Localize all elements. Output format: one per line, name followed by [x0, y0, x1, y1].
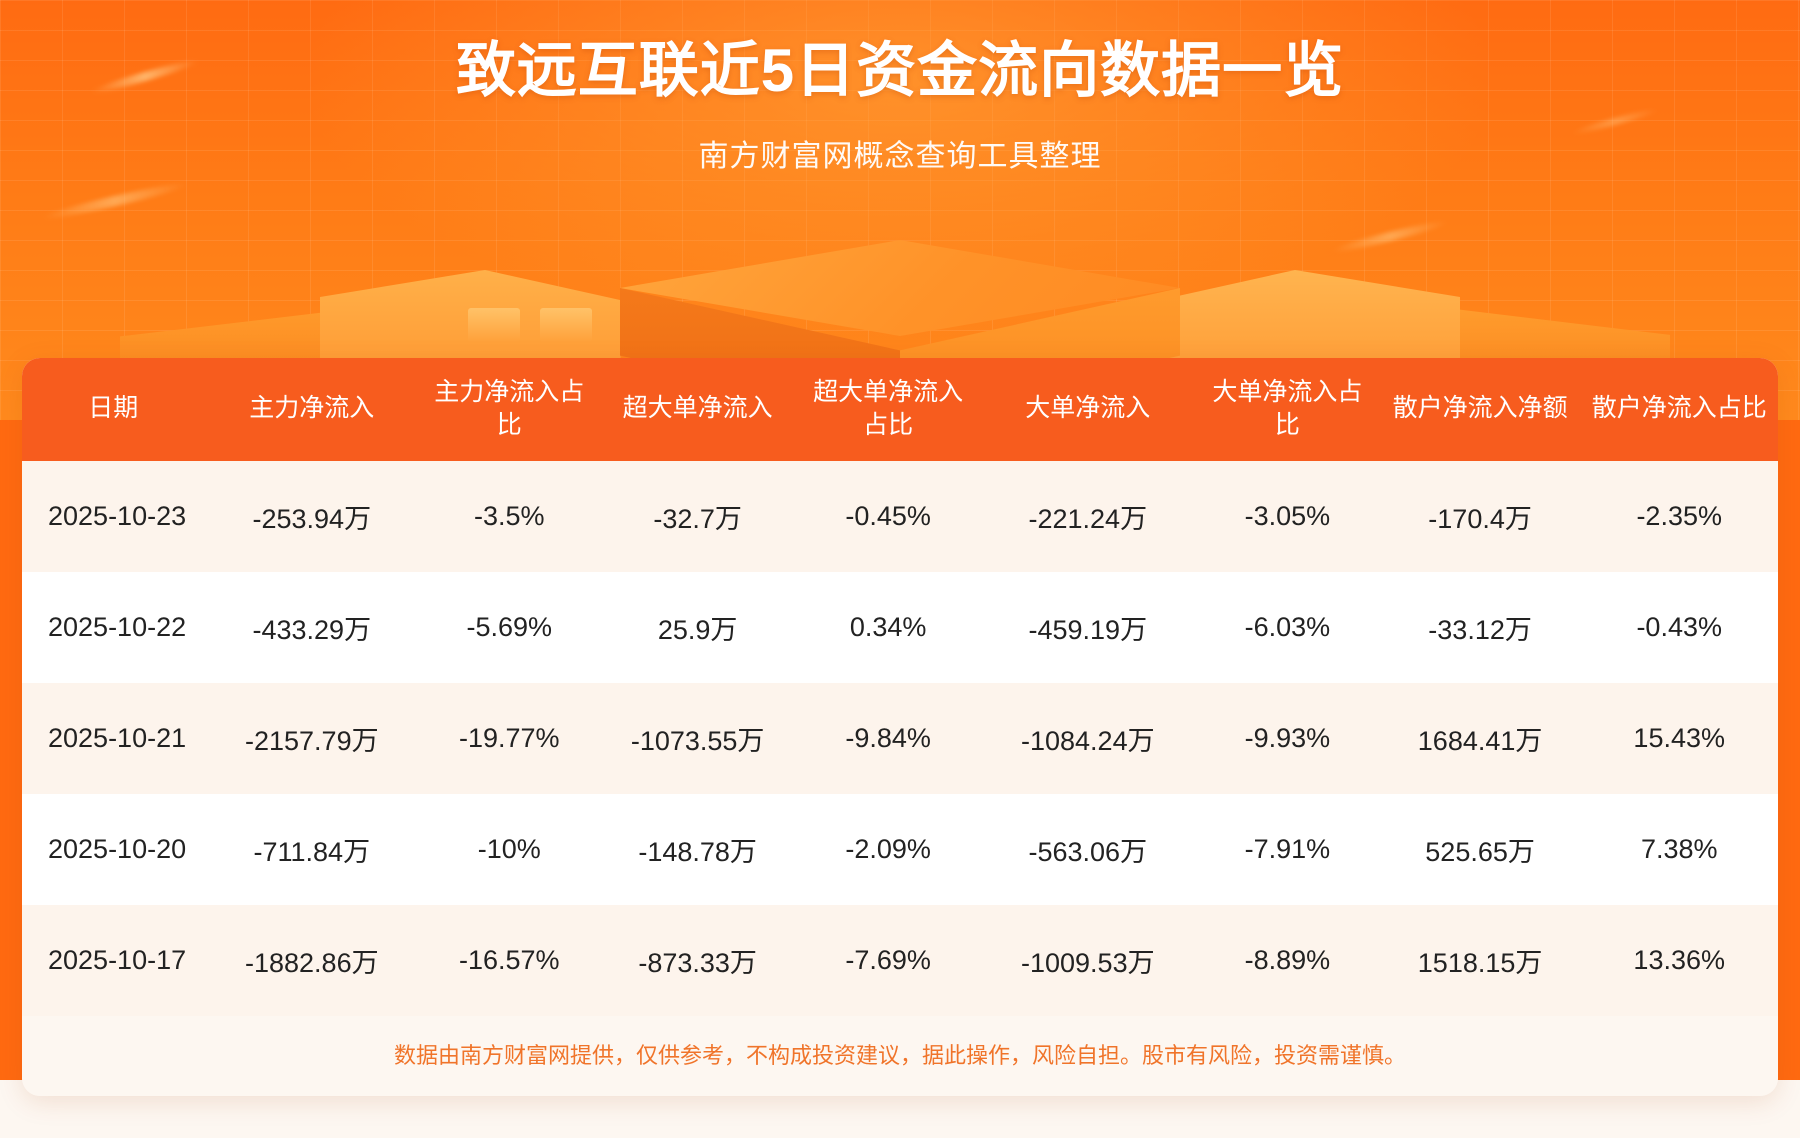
cell-retail-pct: -0.43%	[1580, 572, 1778, 683]
cell-lg-pct: -8.89%	[1195, 905, 1380, 1016]
cell-lg-pct: -9.93%	[1195, 683, 1380, 794]
cell-lg-pct: -3.05%	[1195, 461, 1380, 572]
cell-lg-net: -459.19万	[980, 572, 1195, 683]
cell-xl-pct: 0.34%	[796, 572, 981, 683]
cell-xl-pct: -0.45%	[796, 461, 981, 572]
cell-retail-net: 525.65万	[1380, 794, 1581, 905]
cell-retail-net: -170.4万	[1380, 461, 1581, 572]
cell-xl-net: -32.7万	[599, 461, 795, 572]
cell-date: 2025-10-21	[22, 683, 204, 794]
disclaimer-text: 数据由南方财富网提供，仅供参考，不构成投资建议，据此操作，风险自担。股市有风险，…	[22, 1016, 1778, 1096]
table-row: 2025-10-20 -711.84万 -10% -148.78万 -2.09%…	[22, 794, 1778, 905]
cell-xl-pct: -9.84%	[796, 683, 981, 794]
cell-date: 2025-10-20	[22, 794, 204, 905]
cell-main-pct: -5.69%	[419, 572, 599, 683]
cell-date: 2025-10-22	[22, 572, 204, 683]
cell-main-net: -1882.86万	[204, 905, 419, 1016]
cell-lg-net: -1084.24万	[980, 683, 1195, 794]
column-header-xl-net: 超大单净流入	[599, 358, 795, 461]
column-header-main-net: 主力净流入	[204, 358, 419, 461]
column-header-main-pct: 主力净流入占比	[419, 358, 599, 461]
cell-retail-net: 1518.15万	[1380, 905, 1581, 1016]
page-subtitle: 南方财富网概念查询工具整理	[0, 131, 1800, 175]
column-header-lg-net: 大单净流入	[980, 358, 1195, 461]
cell-lg-net: -563.06万	[980, 794, 1195, 905]
podium-cube	[540, 308, 592, 342]
table-row: 2025-10-21 -2157.79万 -19.77% -1073.55万 -…	[22, 683, 1778, 794]
column-header-retail-net: 散户净流入净额	[1380, 358, 1581, 461]
column-header-retail-pct: 散户净流入占比	[1580, 358, 1778, 461]
column-header-xl-pct: 超大单净流入占比	[796, 358, 981, 461]
cell-main-net: -253.94万	[204, 461, 419, 572]
cell-retail-net: -33.12万	[1380, 572, 1581, 683]
cell-retail-pct: 15.43%	[1580, 683, 1778, 794]
cell-retail-pct: 7.38%	[1580, 794, 1778, 905]
cell-lg-pct: -7.91%	[1195, 794, 1380, 905]
table-header-row: 日期 主力净流入 主力净流入占比 超大单净流入 超大单净流入占比 大单净流入 大…	[22, 358, 1778, 461]
cell-lg-net: -1009.53万	[980, 905, 1195, 1016]
page-title: 致远互联近5日资金流向数据一览	[0, 36, 1800, 105]
cell-xl-net: -1073.55万	[599, 683, 795, 794]
title-block: 致远互联近5日资金流向数据一览 南方财富网概念查询工具整理	[0, 36, 1800, 175]
cell-main-pct: -3.5%	[419, 461, 599, 572]
cell-date: 2025-10-23	[22, 461, 204, 572]
cell-xl-net: -148.78万	[599, 794, 795, 905]
fund-flow-card: 南方财富网 Southmoney.com 日期 主力净流入 主力净流入占比 超大…	[22, 358, 1778, 1096]
cell-date: 2025-10-17	[22, 905, 204, 1016]
table-row: 2025-10-22 -433.29万 -5.69% 25.9万 0.34% -…	[22, 572, 1778, 683]
podium-cube	[468, 308, 520, 342]
cell-retail-pct: -2.35%	[1580, 461, 1778, 572]
cell-main-pct: -19.77%	[419, 683, 599, 794]
table-row: 2025-10-23 -253.94万 -3.5% -32.7万 -0.45% …	[22, 461, 1778, 572]
table-row: 2025-10-17 -1882.86万 -16.57% -873.33万 -7…	[22, 905, 1778, 1016]
cell-lg-net: -221.24万	[980, 461, 1195, 572]
column-header-lg-pct: 大单净流入占比	[1195, 358, 1380, 461]
fund-flow-table: 日期 主力净流入 主力净流入占比 超大单净流入 超大单净流入占比 大单净流入 大…	[22, 358, 1778, 1016]
cell-xl-net: -873.33万	[599, 905, 795, 1016]
cell-main-pct: -16.57%	[419, 905, 599, 1016]
cell-xl-net: 25.9万	[599, 572, 795, 683]
cell-main-pct: -10%	[419, 794, 599, 905]
cell-main-net: -711.84万	[204, 794, 419, 905]
cell-retail-pct: 13.36%	[1580, 905, 1778, 1016]
cell-retail-net: 1684.41万	[1380, 683, 1581, 794]
column-header-date: 日期	[22, 358, 204, 461]
cell-main-net: -2157.79万	[204, 683, 419, 794]
cell-xl-pct: -7.69%	[796, 905, 981, 1016]
cell-main-net: -433.29万	[204, 572, 419, 683]
table-body: 2025-10-23 -253.94万 -3.5% -32.7万 -0.45% …	[22, 461, 1778, 1016]
cell-lg-pct: -6.03%	[1195, 572, 1380, 683]
cell-xl-pct: -2.09%	[796, 794, 981, 905]
